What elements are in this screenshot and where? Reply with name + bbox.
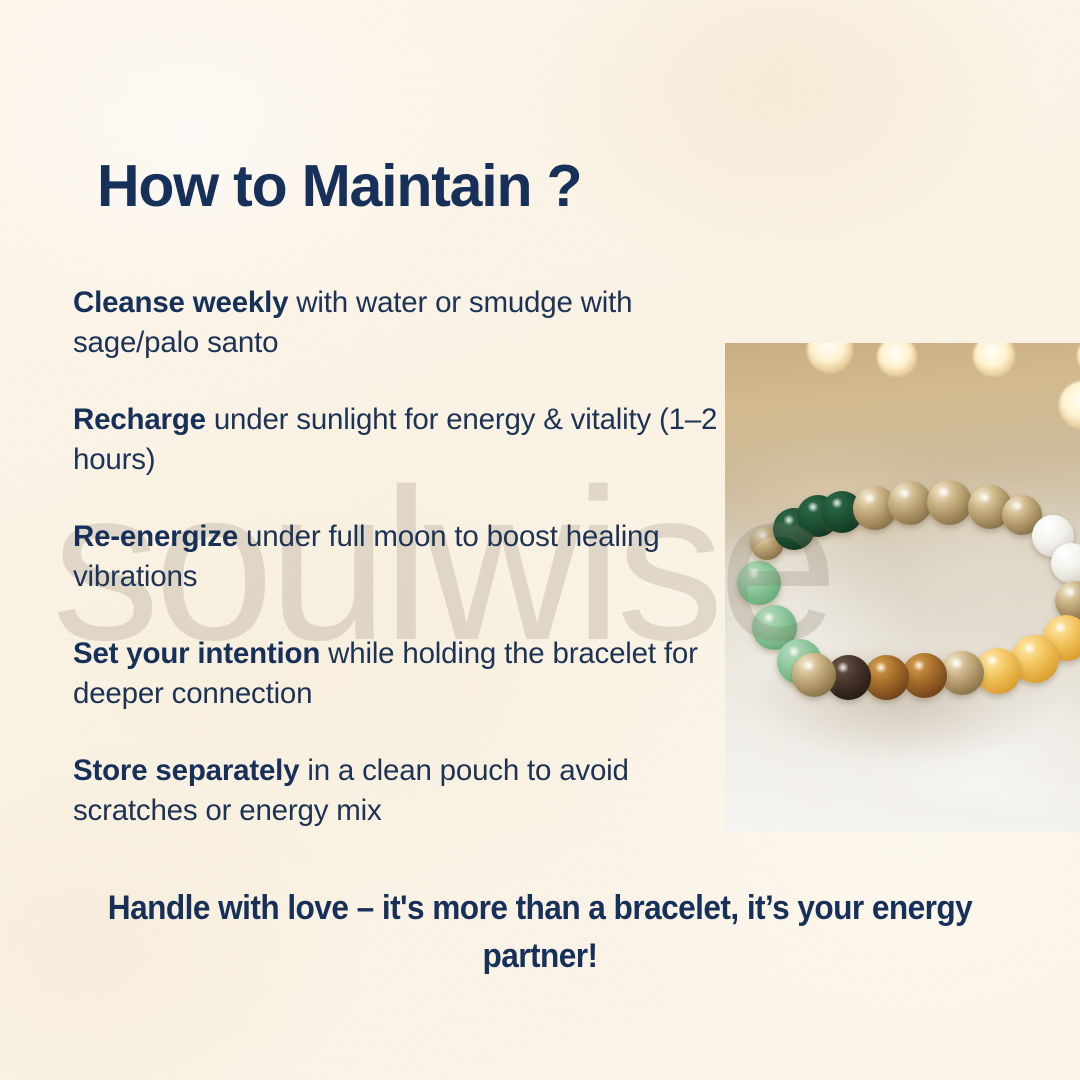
bead-pyrite (792, 653, 836, 697)
tip-item: Recharge under sunlight for energy & vit… (73, 400, 723, 480)
tip-item: Re-energize under full moon to boost hea… (73, 517, 723, 597)
tip-lead: Cleanse weekly (73, 286, 288, 319)
bead-light-green-aventurine (737, 561, 781, 605)
gemstone-bracelet (725, 343, 1080, 832)
bead-pyrite (927, 480, 972, 525)
page-title: How to Maintain ? (97, 152, 581, 220)
tip-lead: Set your intention (73, 637, 320, 670)
tip-lead: Re-energize (73, 520, 238, 553)
closing-tagline: Handle with love – it's more than a brac… (94, 884, 987, 980)
bracelet-product-photo (725, 343, 1080, 832)
bead-clear-quartz (1051, 543, 1080, 583)
maintenance-info-card: soulwise How to Maintain ? Cleanse weekl… (0, 0, 1080, 1080)
tip-lead: Store separately (73, 754, 299, 787)
tip-item: Store separately in a clean pouch to avo… (73, 751, 723, 831)
tip-item: Cleanse weekly with water or smudge with… (73, 283, 723, 363)
tip-lead: Recharge (73, 403, 206, 436)
maintenance-tips-list: Cleanse weekly with water or smudge with… (73, 283, 723, 831)
tip-item: Set your intention while holding the bra… (73, 634, 723, 714)
bead-pyrite (888, 481, 932, 525)
